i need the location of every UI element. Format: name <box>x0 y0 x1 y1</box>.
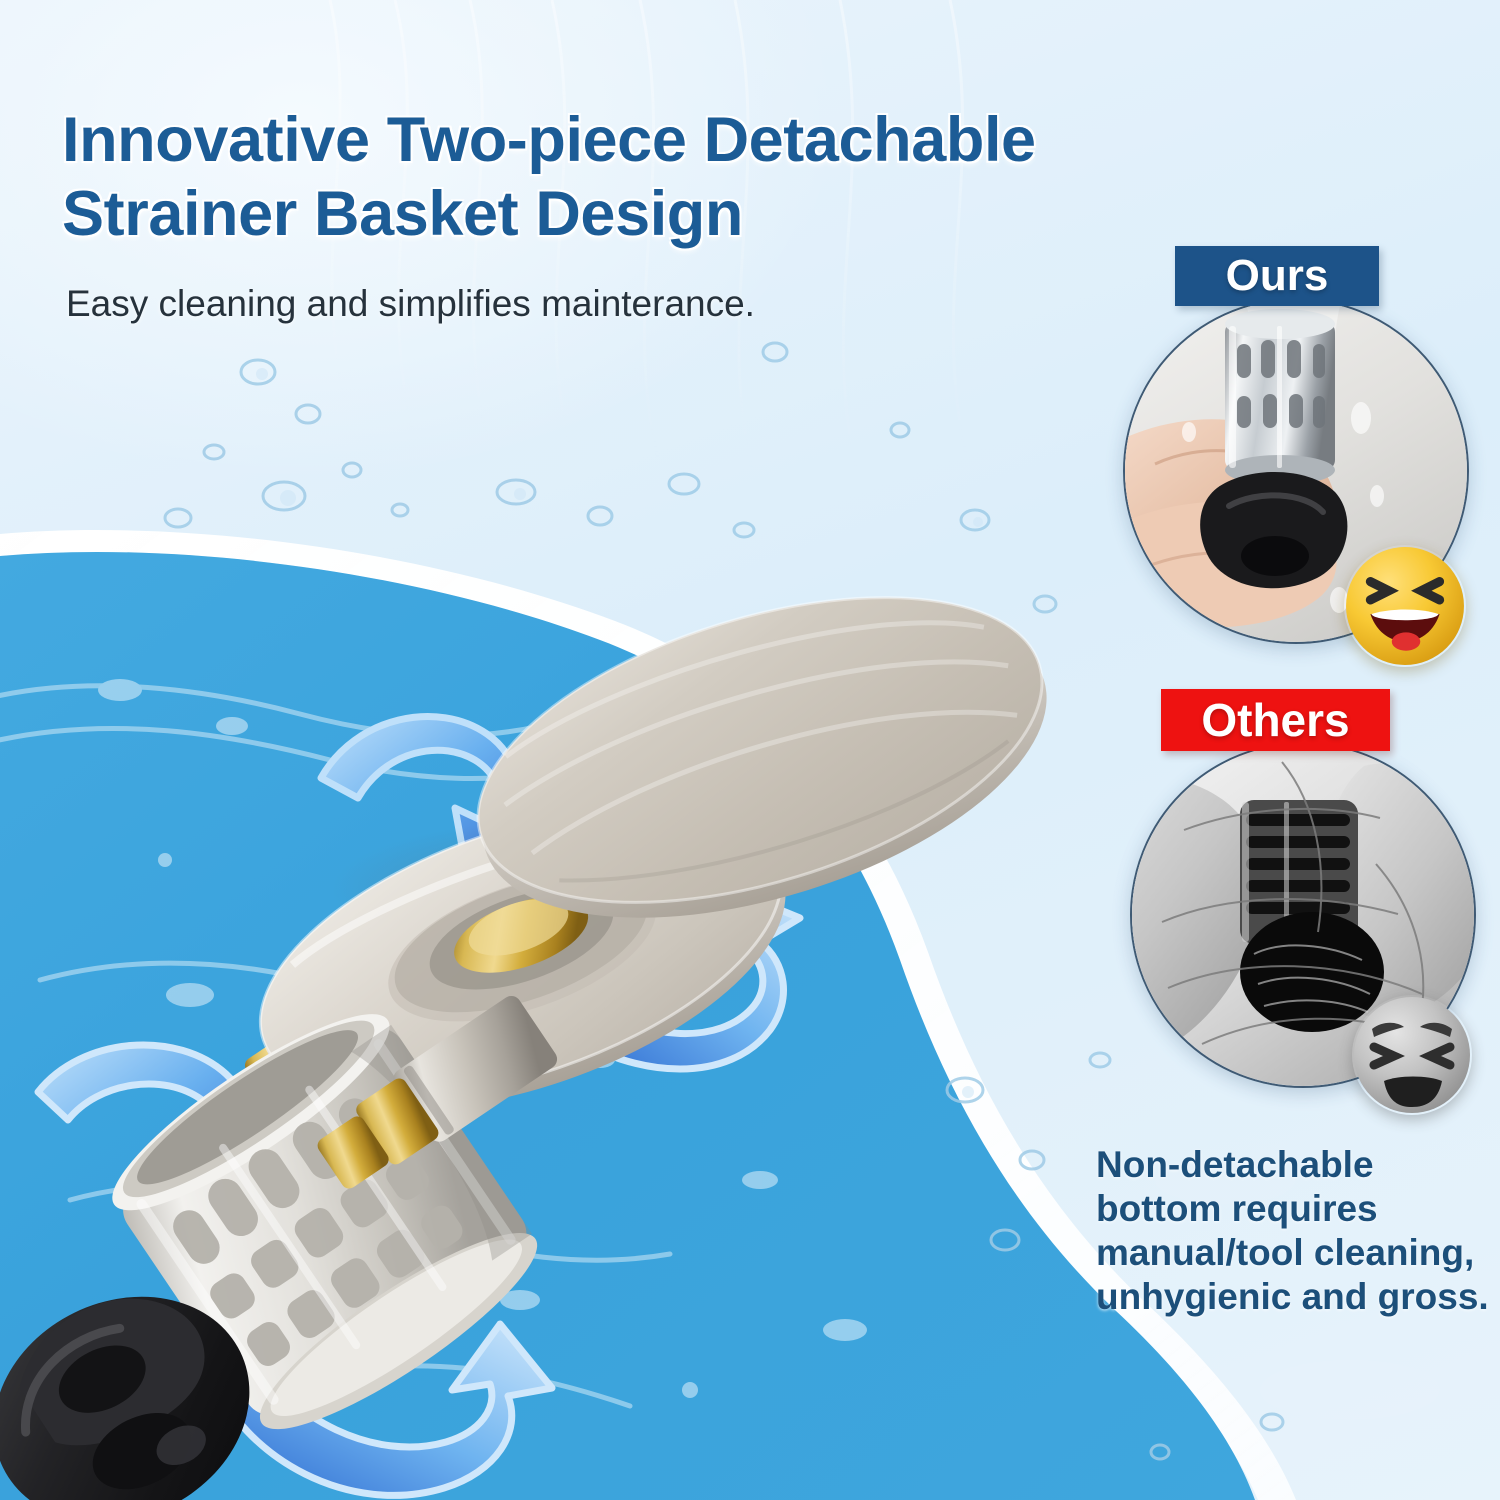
black-bottom-piece <box>1200 472 1347 588</box>
product-exploded-illustration <box>0 330 1120 1500</box>
badge-ours: Ours <box>1175 246 1379 306</box>
laughing-face-emoji <box>1344 545 1466 667</box>
others-caption: Non-detachable bottom requires manual/to… <box>1096 1143 1496 1319</box>
weary-face-emoji <box>1352 995 1472 1115</box>
infographic-canvas: Innovative Two-piece Detachable Strainer… <box>0 0 1500 1500</box>
chrome-strainer-basket <box>1225 309 1335 485</box>
badge-others: Others <box>1161 689 1390 751</box>
